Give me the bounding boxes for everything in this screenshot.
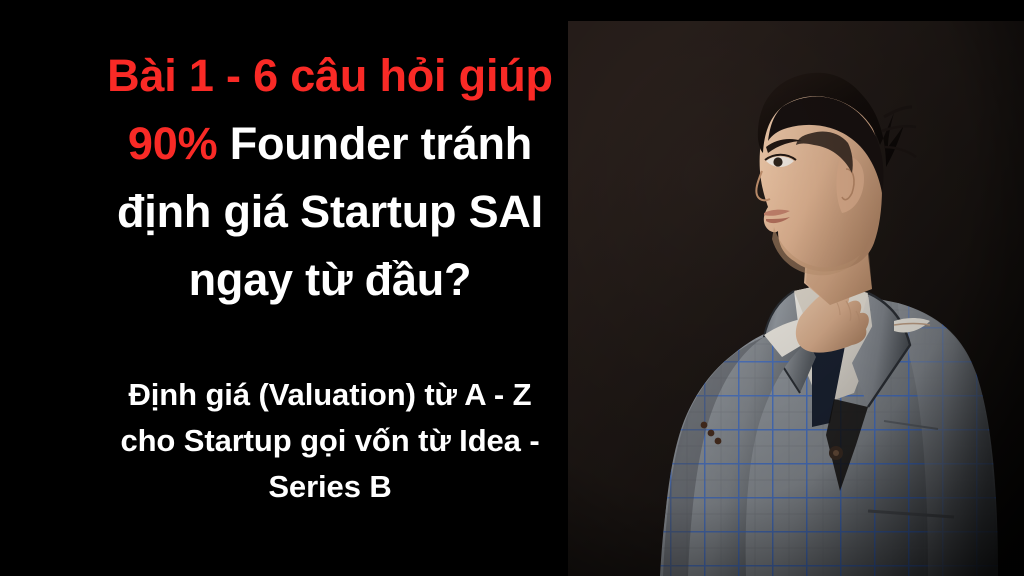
subheadline-line-3: Series B (20, 464, 640, 510)
headline-line-2-rest: Founder tránh (217, 118, 532, 169)
subheadline-block: Định giá (Valuation) từ A - Z cho Startu… (20, 372, 640, 510)
headline-line-1-accent: Bài 1 - 6 câu hỏi giúp (107, 50, 553, 101)
subheadline-line-1: Định giá (Valuation) từ A - Z (20, 372, 640, 418)
subheadline-line-2: cho Startup gọi vốn từ Idea - (20, 418, 640, 464)
headline-block: Bài 1 - 6 câu hỏi giúp 90% Founder tránh… (20, 42, 640, 314)
headline-line-4: ngay từ đầu? (20, 246, 640, 314)
slide-canvas: Bài 1 - 6 câu hỏi giúp 90% Founder tránh… (0, 0, 1024, 576)
headline-line-2: 90% Founder tránh (20, 110, 640, 178)
headline-line-3: định giá Startup SAI (20, 178, 640, 246)
text-column: Bài 1 - 6 câu hỏi giúp 90% Founder tránh… (0, 0, 660, 576)
headline-percent-accent: 90% (128, 118, 217, 169)
headline-line-1: Bài 1 - 6 câu hỏi giúp (20, 42, 640, 110)
